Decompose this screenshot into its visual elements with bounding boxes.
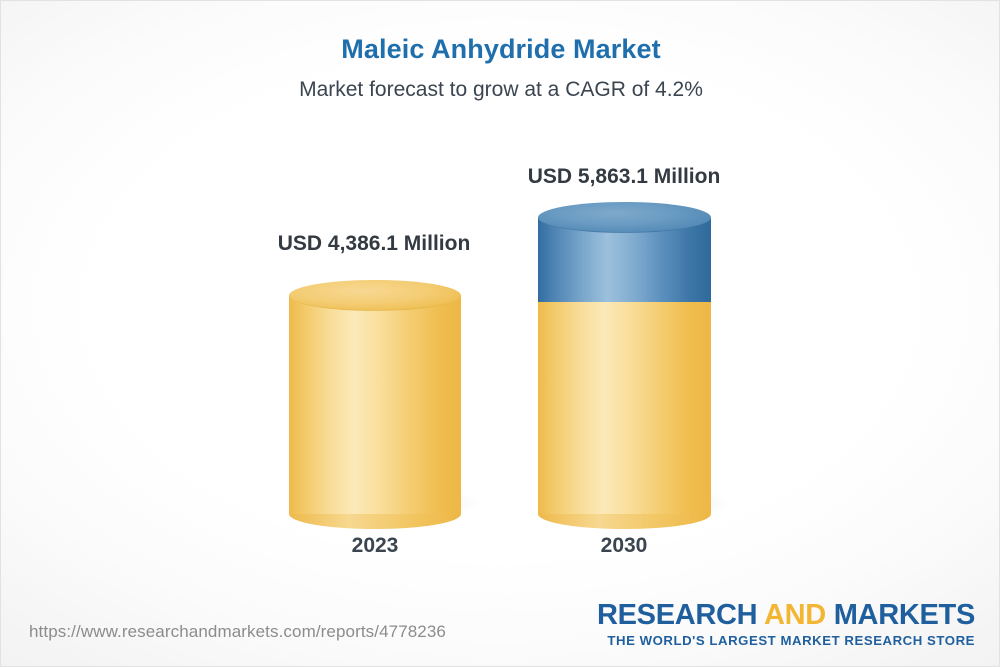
market-infographic: Maleic Anhydride Market Market forecast … — [0, 0, 1000, 667]
bar-2030[interactable] — [538, 201, 711, 514]
bar-top-cap-2023 — [289, 280, 461, 311]
bar-top-cap-2030 — [538, 202, 711, 233]
logo-word-research: RESEARCH — [597, 599, 764, 631]
logo-word-and: AND — [764, 599, 834, 631]
bar-2023[interactable] — [289, 279, 461, 514]
bar-segment-2023-base — [289, 295, 461, 514]
research-and-markets-logo[interactable]: RESEARCH AND MARKETS THE WORLD'S LARGEST… — [597, 600, 975, 648]
bar-segment-2030-base — [538, 301, 711, 514]
category-label-2023: 2023 — [245, 534, 505, 558]
bar-body-2023 — [289, 295, 461, 514]
logo-word-markets: MARKETS — [834, 599, 975, 631]
value-label-2030: USD 5,863.1 Million — [444, 165, 804, 189]
report-url[interactable]: https://www.researchandmarkets.com/repor… — [29, 622, 446, 642]
bar-body-2030-base — [538, 301, 711, 514]
bar-segment-2030-growth — [538, 217, 711, 302]
value-label-2023: USD 4,386.1 Million — [194, 232, 554, 256]
chart-plot-area: USD 4,386.1 Million 2023 USD 5,863.1 Mil… — [1, 1, 1000, 667]
logo-tagline: THE WORLD'S LARGEST MARKET RESEARCH STOR… — [597, 633, 975, 648]
logo-wordmark: RESEARCH AND MARKETS — [597, 600, 975, 630]
category-label-2030: 2030 — [494, 534, 754, 558]
